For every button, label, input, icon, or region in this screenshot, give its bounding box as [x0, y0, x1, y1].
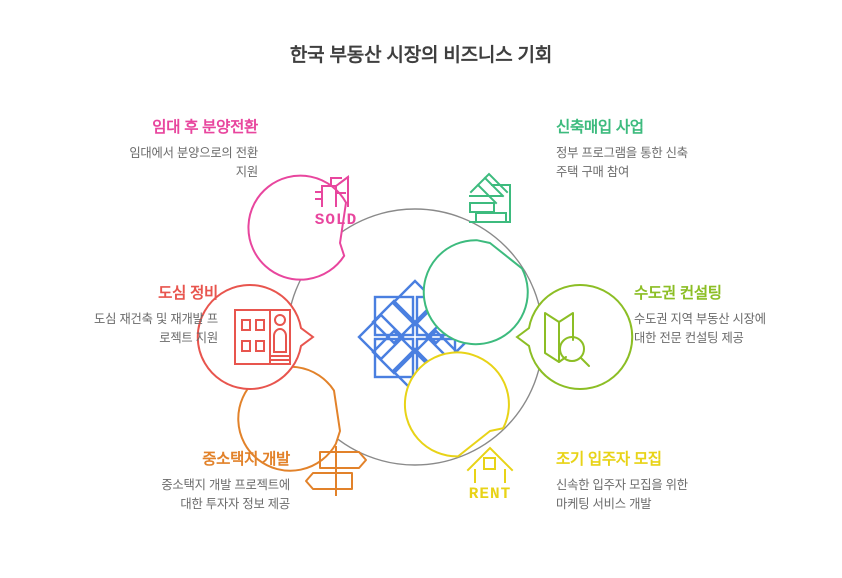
- label-description: 신속한 입주자 모집을 위한 마케팅 서비스 개발: [556, 476, 766, 513]
- label-description: 수도권 지역 부동산 시장에 대한 전문 컨설팅 제공: [634, 310, 842, 347]
- label-description: 정부 프로그램을 통한 신축 주택 구매 참여: [556, 144, 766, 181]
- pin-icon-label-rent: RENT: [469, 485, 511, 503]
- label-heading: 도심 정비: [8, 284, 218, 303]
- house-rent-icon: [468, 448, 512, 482]
- label-heading: 중소택지 개발: [80, 450, 290, 469]
- pin-metro-consulting[interactable]: [517, 285, 632, 389]
- label-description: 중소택지 개발 프로젝트에 대한 투자자 정보 제공: [80, 476, 290, 513]
- label-urban-renewal: 도심 정비 도심 재건축 및 재개발 프 로젝트 지원: [8, 284, 218, 348]
- page-title: 한국 부동산 시장의 비즈니스 기회: [0, 40, 842, 67]
- infographic-canvas: 한국 부동산 시장의 비즈니스 기회: [0, 0, 842, 578]
- pin-early-tenant-recruitment[interactable]: RENT: [386, 333, 528, 503]
- label-early-tenant-recruitment: 조기 입주자 모집 신속한 입주자 모집을 위한 마케팅 서비스 개발: [556, 450, 766, 514]
- label-heading: 수도권 컨설팅: [634, 284, 842, 303]
- label-description: 임대에서 분양으로의 전환 지원: [48, 144, 258, 181]
- label-metro-consulting: 수도권 컨설팅 수도권 지역 부동산 시장에 대한 전문 컨설팅 제공: [634, 284, 842, 348]
- label-heading: 신축매입 사업: [556, 118, 766, 137]
- pin-icon-label-sold: SOLD: [315, 211, 357, 229]
- house-roof-construction-icon: [470, 174, 510, 222]
- label-description: 도심 재건축 및 재개발 프 로젝트 지원: [8, 310, 218, 347]
- label-heading: 임대 후 분양전환: [48, 118, 258, 137]
- label-new-build-purchase: 신축매입 사업 정부 프로그램을 통한 신축 주택 구매 참여: [556, 118, 766, 182]
- label-heading: 조기 입주자 모집: [556, 450, 766, 469]
- pin-shape-yellow: [386, 333, 528, 475]
- label-rental-to-sale: 임대 후 분양전환 임대에서 분양으로의 전환 지원: [48, 118, 258, 182]
- label-small-land-development: 중소택지 개발 중소택지 개발 프로젝트에 대한 투자자 정보 제공: [80, 450, 290, 514]
